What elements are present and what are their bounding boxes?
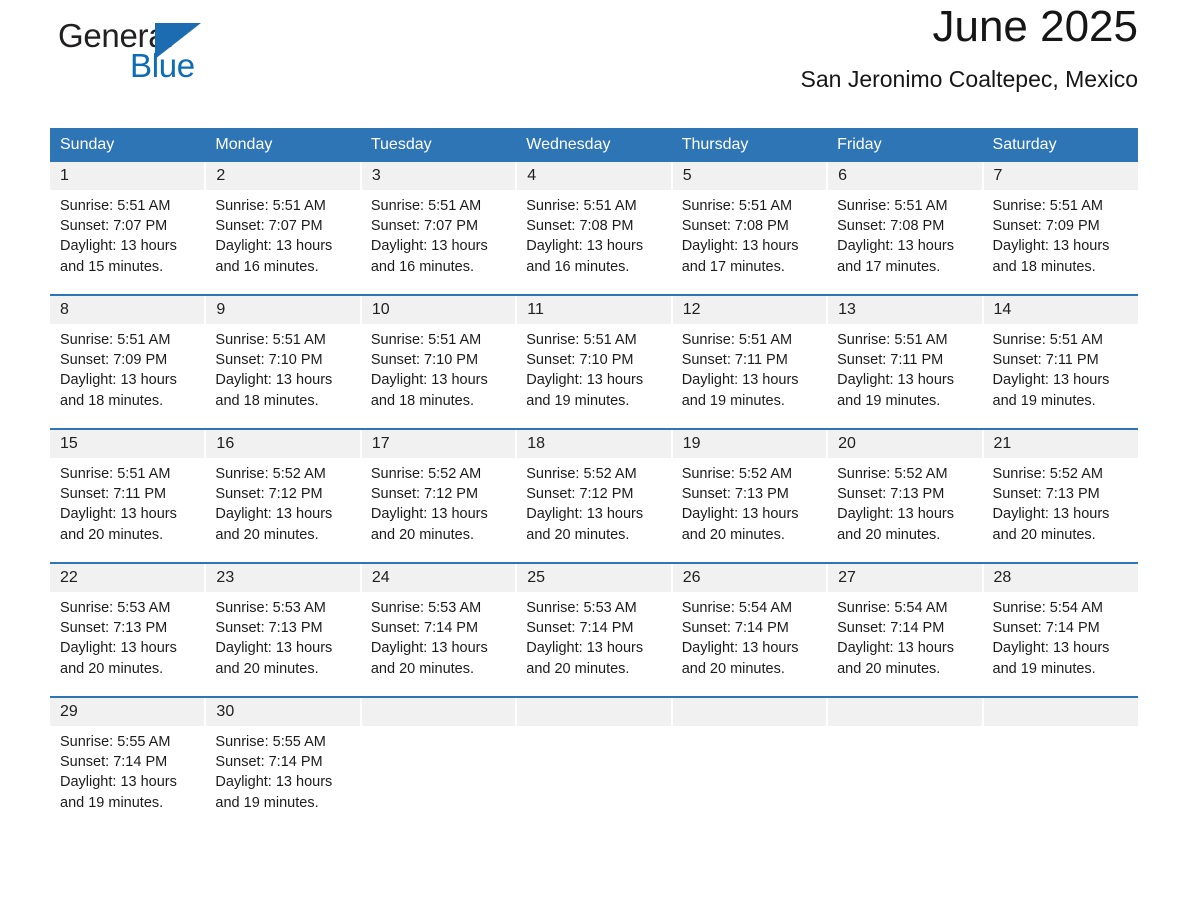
daylight-text-line1: Daylight: 13 hours — [371, 236, 506, 256]
sunset-text: Sunset: 7:12 PM — [526, 484, 661, 504]
daylight-text-line2: and 17 minutes. — [837, 257, 972, 277]
sunrise-text: Sunrise: 5:54 AM — [993, 598, 1128, 618]
logo-text-blue: Blue — [130, 47, 195, 85]
generalblue-logo[interactable]: General Blue — [50, 13, 250, 93]
week-5-daynum-row: 29 30 — [50, 698, 1138, 726]
daylight-text-line1: Daylight: 13 hours — [371, 504, 506, 524]
empty-day-cell — [516, 726, 671, 830]
sunset-text: Sunset: 7:07 PM — [215, 216, 350, 236]
sunset-text: Sunset: 7:14 PM — [682, 618, 817, 638]
daylight-text-line1: Daylight: 13 hours — [993, 236, 1128, 256]
day-number[interactable]: 12 — [672, 296, 827, 324]
sunrise-text: Sunrise: 5:51 AM — [215, 196, 350, 216]
daylight-text-line2: and 16 minutes. — [526, 257, 661, 277]
sunrise-text: Sunrise: 5:51 AM — [371, 330, 506, 350]
daylight-text-line1: Daylight: 13 hours — [993, 370, 1128, 390]
sunset-text: Sunset: 7:13 PM — [215, 618, 350, 638]
day-number[interactable]: 6 — [827, 162, 982, 190]
daylight-text-line1: Daylight: 13 hours — [215, 504, 350, 524]
weekday-header-tuesday: Tuesday — [361, 128, 516, 162]
daylight-text-line1: Daylight: 13 hours — [371, 370, 506, 390]
day-number[interactable]: 14 — [983, 296, 1138, 324]
sunset-text: Sunset: 7:14 PM — [837, 618, 972, 638]
daylight-text-line1: Daylight: 13 hours — [215, 772, 350, 792]
week-2-info-row: Sunrise: 5:51 AM Sunset: 7:09 PM Dayligh… — [50, 324, 1138, 428]
day-number[interactable]: 21 — [983, 430, 1138, 458]
daylight-text-line2: and 16 minutes. — [215, 257, 350, 277]
day-cell[interactable]: Sunrise: 5:54 AM Sunset: 7:14 PM Dayligh… — [983, 592, 1138, 696]
daylight-text-line2: and 20 minutes. — [837, 659, 972, 679]
sunset-text: Sunset: 7:08 PM — [682, 216, 817, 236]
day-number[interactable]: 7 — [983, 162, 1138, 190]
daylight-text-line2: and 16 minutes. — [371, 257, 506, 277]
daylight-text-line2: and 20 minutes. — [371, 659, 506, 679]
sunset-text: Sunset: 7:09 PM — [993, 216, 1128, 236]
day-number[interactable]: 22 — [50, 564, 205, 592]
sunrise-text: Sunrise: 5:51 AM — [682, 196, 817, 216]
day-cell[interactable]: Sunrise: 5:51 AM Sunset: 7:11 PM Dayligh… — [50, 458, 205, 562]
day-number[interactable]: 1 — [50, 162, 205, 190]
sunrise-text: Sunrise: 5:51 AM — [837, 196, 972, 216]
daylight-text-line1: Daylight: 13 hours — [837, 504, 972, 524]
sunset-text: Sunset: 7:07 PM — [371, 216, 506, 236]
week-5-info-row: Sunrise: 5:55 AM Sunset: 7:14 PM Dayligh… — [50, 726, 1138, 830]
sunrise-text: Sunrise: 5:51 AM — [526, 196, 661, 216]
sunset-text: Sunset: 7:13 PM — [682, 484, 817, 504]
sunrise-text: Sunrise: 5:51 AM — [371, 196, 506, 216]
daylight-text-line1: Daylight: 13 hours — [526, 236, 661, 256]
sunset-text: Sunset: 7:10 PM — [215, 350, 350, 370]
day-number[interactable]: 19 — [672, 430, 827, 458]
daylight-text-line1: Daylight: 13 hours — [682, 236, 817, 256]
sunrise-text: Sunrise: 5:51 AM — [993, 196, 1128, 216]
week-4-daynum-row: 22 23 24 25 26 27 28 — [50, 564, 1138, 592]
week-3-daynum-row: 15 16 17 18 19 20 21 — [50, 430, 1138, 458]
daylight-text-line1: Daylight: 13 hours — [371, 638, 506, 658]
day-cell[interactable]: Sunrise: 5:55 AM Sunset: 7:14 PM Dayligh… — [205, 726, 360, 830]
weekday-header-sunday: Sunday — [50, 128, 205, 162]
sunset-text: Sunset: 7:10 PM — [371, 350, 506, 370]
daylight-text-line2: and 20 minutes. — [837, 525, 972, 545]
day-cell[interactable]: Sunrise: 5:53 AM Sunset: 7:13 PM Dayligh… — [50, 592, 205, 696]
sunset-text: Sunset: 7:14 PM — [60, 752, 195, 772]
empty-day-cell — [827, 726, 982, 830]
daylight-text-line1: Daylight: 13 hours — [60, 370, 195, 390]
daylight-text-line1: Daylight: 13 hours — [993, 504, 1128, 524]
day-cell[interactable]: Sunrise: 5:51 AM Sunset: 7:08 PM Dayligh… — [516, 190, 671, 294]
weekday-header-thursday: Thursday — [672, 128, 827, 162]
day-cell[interactable]: Sunrise: 5:51 AM Sunset: 7:10 PM Dayligh… — [516, 324, 671, 428]
daylight-text-line1: Daylight: 13 hours — [215, 370, 350, 390]
empty-day-cell — [983, 698, 1138, 726]
day-number[interactable]: 29 — [50, 698, 205, 726]
page-header: General Blue June 2025 San Jeronimo Coal… — [50, 0, 1138, 112]
sunset-text: Sunset: 7:08 PM — [837, 216, 972, 236]
weekday-header-wednesday: Wednesday — [516, 128, 671, 162]
sunset-text: Sunset: 7:14 PM — [526, 618, 661, 638]
daylight-text-line2: and 20 minutes. — [215, 659, 350, 679]
sunset-text: Sunset: 7:12 PM — [371, 484, 506, 504]
weekday-header-friday: Friday — [827, 128, 982, 162]
day-cell[interactable]: Sunrise: 5:51 AM Sunset: 7:11 PM Dayligh… — [672, 324, 827, 428]
day-number[interactable]: 17 — [361, 430, 516, 458]
daylight-text-line1: Daylight: 13 hours — [682, 504, 817, 524]
daylight-text-line2: and 19 minutes. — [215, 793, 350, 813]
sunset-text: Sunset: 7:11 PM — [60, 484, 195, 504]
daylight-text-line1: Daylight: 13 hours — [60, 236, 195, 256]
day-number[interactable]: 5 — [672, 162, 827, 190]
day-cell[interactable]: Sunrise: 5:52 AM Sunset: 7:13 PM Dayligh… — [672, 458, 827, 562]
day-number[interactable]: 15 — [50, 430, 205, 458]
day-number[interactable]: 9 — [205, 296, 360, 324]
day-cell[interactable]: Sunrise: 5:51 AM Sunset: 7:11 PM Dayligh… — [983, 324, 1138, 428]
day-cell[interactable]: Sunrise: 5:54 AM Sunset: 7:14 PM Dayligh… — [672, 592, 827, 696]
sunset-text: Sunset: 7:10 PM — [526, 350, 661, 370]
sunrise-sunset-calendar-table: Sunday Monday Tuesday Wednesday Thursday… — [50, 128, 1138, 830]
empty-day-cell — [827, 698, 982, 726]
daylight-text-line1: Daylight: 13 hours — [837, 370, 972, 390]
daylight-text-line1: Daylight: 13 hours — [682, 638, 817, 658]
day-number[interactable]: 16 — [205, 430, 360, 458]
daylight-text-line2: and 19 minutes. — [682, 391, 817, 411]
daylight-text-line2: and 20 minutes. — [993, 525, 1128, 545]
calendar-header-row: Sunday Monday Tuesday Wednesday Thursday… — [50, 128, 1138, 162]
day-cell[interactable]: Sunrise: 5:51 AM Sunset: 7:10 PM Dayligh… — [205, 324, 360, 428]
daylight-text-line2: and 20 minutes. — [215, 525, 350, 545]
daylight-text-line2: and 19 minutes. — [60, 793, 195, 813]
day-cell[interactable]: Sunrise: 5:55 AM Sunset: 7:14 PM Dayligh… — [50, 726, 205, 830]
daylight-text-line1: Daylight: 13 hours — [60, 504, 195, 524]
sunrise-text: Sunrise: 5:52 AM — [993, 464, 1128, 484]
week-1-daynum-row: 1 2 3 4 5 6 7 — [50, 162, 1138, 190]
sunrise-text: Sunrise: 5:52 AM — [837, 464, 972, 484]
daylight-text-line2: and 20 minutes. — [60, 659, 195, 679]
day-number[interactable]: 11 — [516, 296, 671, 324]
day-number[interactable]: 2 — [205, 162, 360, 190]
day-cell[interactable]: Sunrise: 5:52 AM Sunset: 7:12 PM Dayligh… — [205, 458, 360, 562]
sunrise-text: Sunrise: 5:53 AM — [371, 598, 506, 618]
sunrise-text: Sunrise: 5:53 AM — [215, 598, 350, 618]
title-block: June 2025 San Jeronimo Coaltepec, Mexico — [801, 0, 1139, 93]
sunrise-text: Sunrise: 5:51 AM — [993, 330, 1128, 350]
daylight-text-line2: and 18 minutes. — [215, 391, 350, 411]
daylight-text-line2: and 18 minutes. — [371, 391, 506, 411]
daylight-text-line2: and 18 minutes. — [993, 257, 1128, 277]
sunrise-text: Sunrise: 5:54 AM — [837, 598, 972, 618]
sunset-text: Sunset: 7:14 PM — [371, 618, 506, 638]
daylight-text-line2: and 19 minutes. — [837, 391, 972, 411]
daylight-text-line1: Daylight: 13 hours — [682, 370, 817, 390]
sunrise-text: Sunrise: 5:54 AM — [682, 598, 817, 618]
empty-day-cell — [516, 698, 671, 726]
sunrise-text: Sunrise: 5:53 AM — [526, 598, 661, 618]
day-number[interactable]: 30 — [205, 698, 360, 726]
weekday-header-monday: Monday — [205, 128, 360, 162]
day-number[interactable]: 25 — [516, 564, 671, 592]
day-cell[interactable]: Sunrise: 5:51 AM Sunset: 7:09 PM Dayligh… — [50, 324, 205, 428]
day-cell[interactable]: Sunrise: 5:51 AM Sunset: 7:09 PM Dayligh… — [983, 190, 1138, 294]
sunset-text: Sunset: 7:12 PM — [215, 484, 350, 504]
day-cell[interactable]: Sunrise: 5:51 AM Sunset: 7:07 PM Dayligh… — [50, 190, 205, 294]
daylight-text-line1: Daylight: 13 hours — [526, 638, 661, 658]
day-number[interactable]: 18 — [516, 430, 671, 458]
day-cell[interactable]: Sunrise: 5:52 AM Sunset: 7:13 PM Dayligh… — [827, 458, 982, 562]
empty-day-cell — [983, 726, 1138, 830]
calendar-page: General Blue June 2025 San Jeronimo Coal… — [0, 0, 1188, 918]
sunrise-text: Sunrise: 5:51 AM — [215, 330, 350, 350]
day-cell[interactable]: Sunrise: 5:51 AM Sunset: 7:07 PM Dayligh… — [205, 190, 360, 294]
day-cell[interactable]: Sunrise: 5:52 AM Sunset: 7:12 PM Dayligh… — [361, 458, 516, 562]
sunrise-text: Sunrise: 5:51 AM — [837, 330, 972, 350]
sunrise-text: Sunrise: 5:52 AM — [682, 464, 817, 484]
day-cell[interactable]: Sunrise: 5:51 AM Sunset: 7:08 PM Dayligh… — [827, 190, 982, 294]
empty-day-cell — [361, 698, 516, 726]
day-cell[interactable]: Sunrise: 5:51 AM Sunset: 7:11 PM Dayligh… — [827, 324, 982, 428]
week-3-info-row: Sunrise: 5:51 AM Sunset: 7:11 PM Dayligh… — [50, 458, 1138, 562]
week-1-info-row: Sunrise: 5:51 AM Sunset: 7:07 PM Dayligh… — [50, 190, 1138, 294]
sunset-text: Sunset: 7:14 PM — [215, 752, 350, 772]
daylight-text-line2: and 20 minutes. — [371, 525, 506, 545]
sunset-text: Sunset: 7:07 PM — [60, 216, 195, 236]
daylight-text-line2: and 20 minutes. — [526, 659, 661, 679]
day-number[interactable]: 4 — [516, 162, 671, 190]
daylight-text-line2: and 15 minutes. — [60, 257, 195, 277]
day-cell[interactable]: Sunrise: 5:53 AM Sunset: 7:14 PM Dayligh… — [516, 592, 671, 696]
sunrise-text: Sunrise: 5:52 AM — [526, 464, 661, 484]
sunrise-text: Sunrise: 5:51 AM — [526, 330, 661, 350]
sunset-text: Sunset: 7:11 PM — [682, 350, 817, 370]
sunrise-text: Sunrise: 5:52 AM — [371, 464, 506, 484]
calendar-body: 1 2 3 4 5 6 7 Sunrise: 5:51 AM Sunset: 7… — [50, 162, 1138, 830]
sunrise-text: Sunrise: 5:53 AM — [60, 598, 195, 618]
empty-day-cell — [672, 726, 827, 830]
daylight-text-line2: and 20 minutes. — [60, 525, 195, 545]
sunrise-text: Sunrise: 5:51 AM — [682, 330, 817, 350]
daylight-text-line1: Daylight: 13 hours — [526, 504, 661, 524]
day-cell[interactable]: Sunrise: 5:51 AM Sunset: 7:10 PM Dayligh… — [361, 324, 516, 428]
sunset-text: Sunset: 7:08 PM — [526, 216, 661, 236]
daylight-text-line1: Daylight: 13 hours — [993, 638, 1128, 658]
sunset-text: Sunset: 7:11 PM — [837, 350, 972, 370]
sunset-text: Sunset: 7:13 PM — [993, 484, 1128, 504]
empty-day-cell — [672, 698, 827, 726]
daylight-text-line2: and 20 minutes. — [682, 525, 817, 545]
daylight-text-line2: and 19 minutes. — [526, 391, 661, 411]
daylight-text-line1: Daylight: 13 hours — [837, 236, 972, 256]
sunrise-text: Sunrise: 5:51 AM — [60, 196, 195, 216]
daylight-text-line1: Daylight: 13 hours — [215, 638, 350, 658]
daylight-text-line1: Daylight: 13 hours — [60, 772, 195, 792]
day-number[interactable]: 13 — [827, 296, 982, 324]
sunset-text: Sunset: 7:14 PM — [993, 618, 1128, 638]
daylight-text-line2: and 19 minutes. — [993, 659, 1128, 679]
daylight-text-line2: and 20 minutes. — [682, 659, 817, 679]
daylight-text-line1: Daylight: 13 hours — [215, 236, 350, 256]
day-cell[interactable]: Sunrise: 5:51 AM Sunset: 7:07 PM Dayligh… — [361, 190, 516, 294]
sunrise-text: Sunrise: 5:52 AM — [215, 464, 350, 484]
day-cell[interactable]: Sunrise: 5:51 AM Sunset: 7:08 PM Dayligh… — [672, 190, 827, 294]
sunrise-text: Sunrise: 5:55 AM — [60, 732, 195, 752]
daylight-text-line1: Daylight: 13 hours — [837, 638, 972, 658]
daylight-text-line2: and 19 minutes. — [993, 391, 1128, 411]
week-2-daynum-row: 8 9 10 11 12 13 14 — [50, 296, 1138, 324]
day-number[interactable]: 23 — [205, 564, 360, 592]
week-4-info-row: Sunrise: 5:53 AM Sunset: 7:13 PM Dayligh… — [50, 592, 1138, 696]
sunrise-text: Sunrise: 5:55 AM — [215, 732, 350, 752]
sunset-text: Sunset: 7:13 PM — [60, 618, 195, 638]
daylight-text-line2: and 17 minutes. — [682, 257, 817, 277]
sunset-text: Sunset: 7:13 PM — [837, 484, 972, 504]
sunrise-text: Sunrise: 5:51 AM — [60, 330, 195, 350]
day-number[interactable]: 20 — [827, 430, 982, 458]
page-title: June 2025 — [801, 4, 1139, 50]
daylight-text-line1: Daylight: 13 hours — [526, 370, 661, 390]
day-number[interactable]: 3 — [361, 162, 516, 190]
sunset-text: Sunset: 7:11 PM — [993, 350, 1128, 370]
day-cell[interactable]: Sunrise: 5:54 AM Sunset: 7:14 PM Dayligh… — [827, 592, 982, 696]
day-number[interactable]: 26 — [672, 564, 827, 592]
location-subtitle: San Jeronimo Coaltepec, Mexico — [801, 66, 1139, 93]
day-number[interactable]: 10 — [361, 296, 516, 324]
day-cell[interactable]: Sunrise: 5:53 AM Sunset: 7:13 PM Dayligh… — [205, 592, 360, 696]
day-cell[interactable]: Sunrise: 5:52 AM Sunset: 7:13 PM Dayligh… — [983, 458, 1138, 562]
weekday-header-saturday: Saturday — [983, 128, 1138, 162]
day-cell[interactable]: Sunrise: 5:53 AM Sunset: 7:14 PM Dayligh… — [361, 592, 516, 696]
daylight-text-line2: and 18 minutes. — [60, 391, 195, 411]
day-number[interactable]: 28 — [983, 564, 1138, 592]
sunrise-text: Sunrise: 5:51 AM — [60, 464, 195, 484]
daylight-text-line2: and 20 minutes. — [526, 525, 661, 545]
sunset-text: Sunset: 7:09 PM — [60, 350, 195, 370]
day-cell[interactable]: Sunrise: 5:52 AM Sunset: 7:12 PM Dayligh… — [516, 458, 671, 562]
daylight-text-line1: Daylight: 13 hours — [60, 638, 195, 658]
empty-day-cell — [361, 726, 516, 830]
day-number[interactable]: 27 — [827, 564, 982, 592]
day-number[interactable]: 24 — [361, 564, 516, 592]
day-number[interactable]: 8 — [50, 296, 205, 324]
